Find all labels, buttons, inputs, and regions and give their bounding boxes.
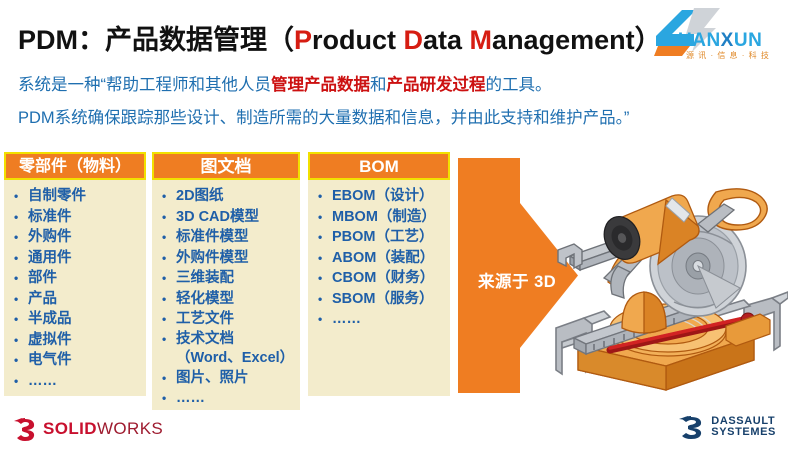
- list-item: PBOM（工艺）: [316, 227, 446, 248]
- list-item: SBOM（服务）: [316, 289, 446, 310]
- title-ata: ata: [423, 25, 470, 55]
- list-item: 三维装配: [160, 268, 296, 289]
- subtitle-line-1: 系统是一种“帮助工程师和其他人员管理产品数据和产品研发过程的工具。: [18, 71, 552, 95]
- subtitle-highlight-product-data: 管理产品数据: [271, 76, 370, 94]
- list-item: 3D CAD模型: [160, 207, 296, 228]
- list-item: 产品: [12, 289, 142, 310]
- title-roduct: roduct: [312, 25, 404, 55]
- miter-saw-3d-model: [548, 178, 788, 406]
- bom-list: EBOM（设计） MBOM（制造） PBOM（工艺） ABOM（装配） CBOM…: [316, 186, 446, 330]
- category-box-bom-body: EBOM（设计） MBOM（制造） PBOM（工艺） ABOM（装配） CBOM…: [308, 180, 450, 336]
- solidworks-logo: SOLIDWORKS: [12, 416, 163, 442]
- title-letter-p: P: [294, 25, 312, 55]
- category-box-documents: 图文档 2D图纸 3D CAD模型 标准件模型 外购件模型 三维装配 轻化模型 …: [152, 152, 300, 410]
- ds-compass-icon: [676, 414, 706, 440]
- subtitle-line1-part-e: 的工具。: [486, 76, 552, 94]
- brand-tagline: 源 讯 · 信 息 · 科 技: [686, 50, 770, 61]
- list-item: MBOM（制造）: [316, 207, 446, 228]
- dassault-line-2: SYSTEMES: [711, 427, 776, 438]
- ds-compass-icon: [12, 417, 38, 441]
- list-item: 外购件模型: [160, 248, 296, 269]
- subtitle-line1-part-a: 系统是一种“帮助工程师和其他人员: [18, 76, 271, 94]
- category-box-documents-body: 2D图纸 3D CAD模型 标准件模型 外购件模型 三维装配 轻化模型 工艺文件…: [152, 180, 300, 415]
- list-item: 通用件: [12, 248, 142, 269]
- list-item: 技术文档（Word、Excel）: [160, 330, 296, 368]
- brand-word-part3: UN: [734, 30, 762, 51]
- dassault-systemes-logo: DASSAULT SYSTEMES: [676, 414, 776, 440]
- documents-list: 2D图纸 3D CAD模型 标准件模型 外购件模型 三维装配 轻化模型 工艺文件…: [160, 186, 296, 409]
- category-box-bom-header: BOM: [308, 152, 450, 180]
- list-item: 标准件模型: [160, 227, 296, 248]
- list-item: 2D图纸: [160, 186, 296, 207]
- category-box-documents-header: 图文档: [152, 152, 300, 180]
- category-box-parts: 零部件（物料） 自制零件 标准件 外购件 通用件 部件 产品 半成品 虚拟件 电…: [4, 152, 146, 396]
- category-box-parts-body: 自制零件 标准件 外购件 通用件 部件 产品 半成品 虚拟件 电气件 ……: [4, 180, 146, 397]
- title-anagement: anagement: [492, 25, 635, 55]
- solidworks-bold: SOLID: [43, 419, 97, 438]
- brand-wordmark: UANXUN: [678, 30, 762, 52]
- subtitle-line1-part-c: 和: [370, 76, 387, 94]
- list-item: 电气件: [12, 350, 142, 371]
- list-item: ……: [160, 388, 296, 409]
- subtitle-line-2: PDM系统确保跟踪那些设计、制造所需的大量数据和信息，并由此支持和维护产品。”: [18, 104, 629, 128]
- title-prefix: PDM：产品数据管理（: [18, 25, 294, 55]
- brand-word-part1: UAN: [678, 30, 721, 51]
- solidworks-wordmark: SOLIDWORKS: [43, 419, 163, 439]
- list-item: 图片、照片: [160, 368, 296, 389]
- list-item: ABOM（装配）: [316, 248, 446, 269]
- title-letter-m: M: [470, 25, 493, 55]
- category-box-parts-header: 零部件（物料）: [4, 152, 146, 180]
- list-item: 半成品: [12, 309, 142, 330]
- list-item: ……: [12, 371, 142, 392]
- list-item: 自制零件: [12, 186, 142, 207]
- list-item: 工艺文件: [160, 309, 296, 330]
- list-item: 虚拟件: [12, 330, 142, 351]
- title-letter-d: D: [404, 25, 424, 55]
- brand-word-part2: X: [721, 30, 734, 51]
- dassault-wordmark: DASSAULT SYSTEMES: [711, 416, 776, 438]
- parts-list: 自制零件 标准件 外购件 通用件 部件 产品 半成品 虚拟件 电气件 ……: [12, 186, 142, 391]
- slide-canvas: PDM：产品数据管理（Product Data Management） 系统是一…: [0, 0, 790, 452]
- arrow-label: 来源于 3D: [478, 268, 556, 292]
- list-item: 轻化模型: [160, 289, 296, 310]
- list-item: EBOM（设计）: [316, 186, 446, 207]
- solidworks-thin: WORKS: [97, 419, 163, 438]
- subtitle-highlight-rd-process: 产品研发过程: [387, 76, 486, 94]
- page-title: PDM：产品数据管理（Product Data Management）: [18, 18, 662, 57]
- list-item: 部件: [12, 268, 142, 289]
- list-item: CBOM（财务）: [316, 268, 446, 289]
- brand-logo: UANXUN 源 讯 · 信 息 · 科 技: [642, 2, 784, 64]
- list-item: 外购件: [12, 227, 142, 248]
- list-item: ……: [316, 309, 446, 330]
- list-item: 标准件: [12, 207, 142, 228]
- category-box-bom: BOM EBOM（设计） MBOM（制造） PBOM（工艺） ABOM（装配） …: [308, 152, 450, 396]
